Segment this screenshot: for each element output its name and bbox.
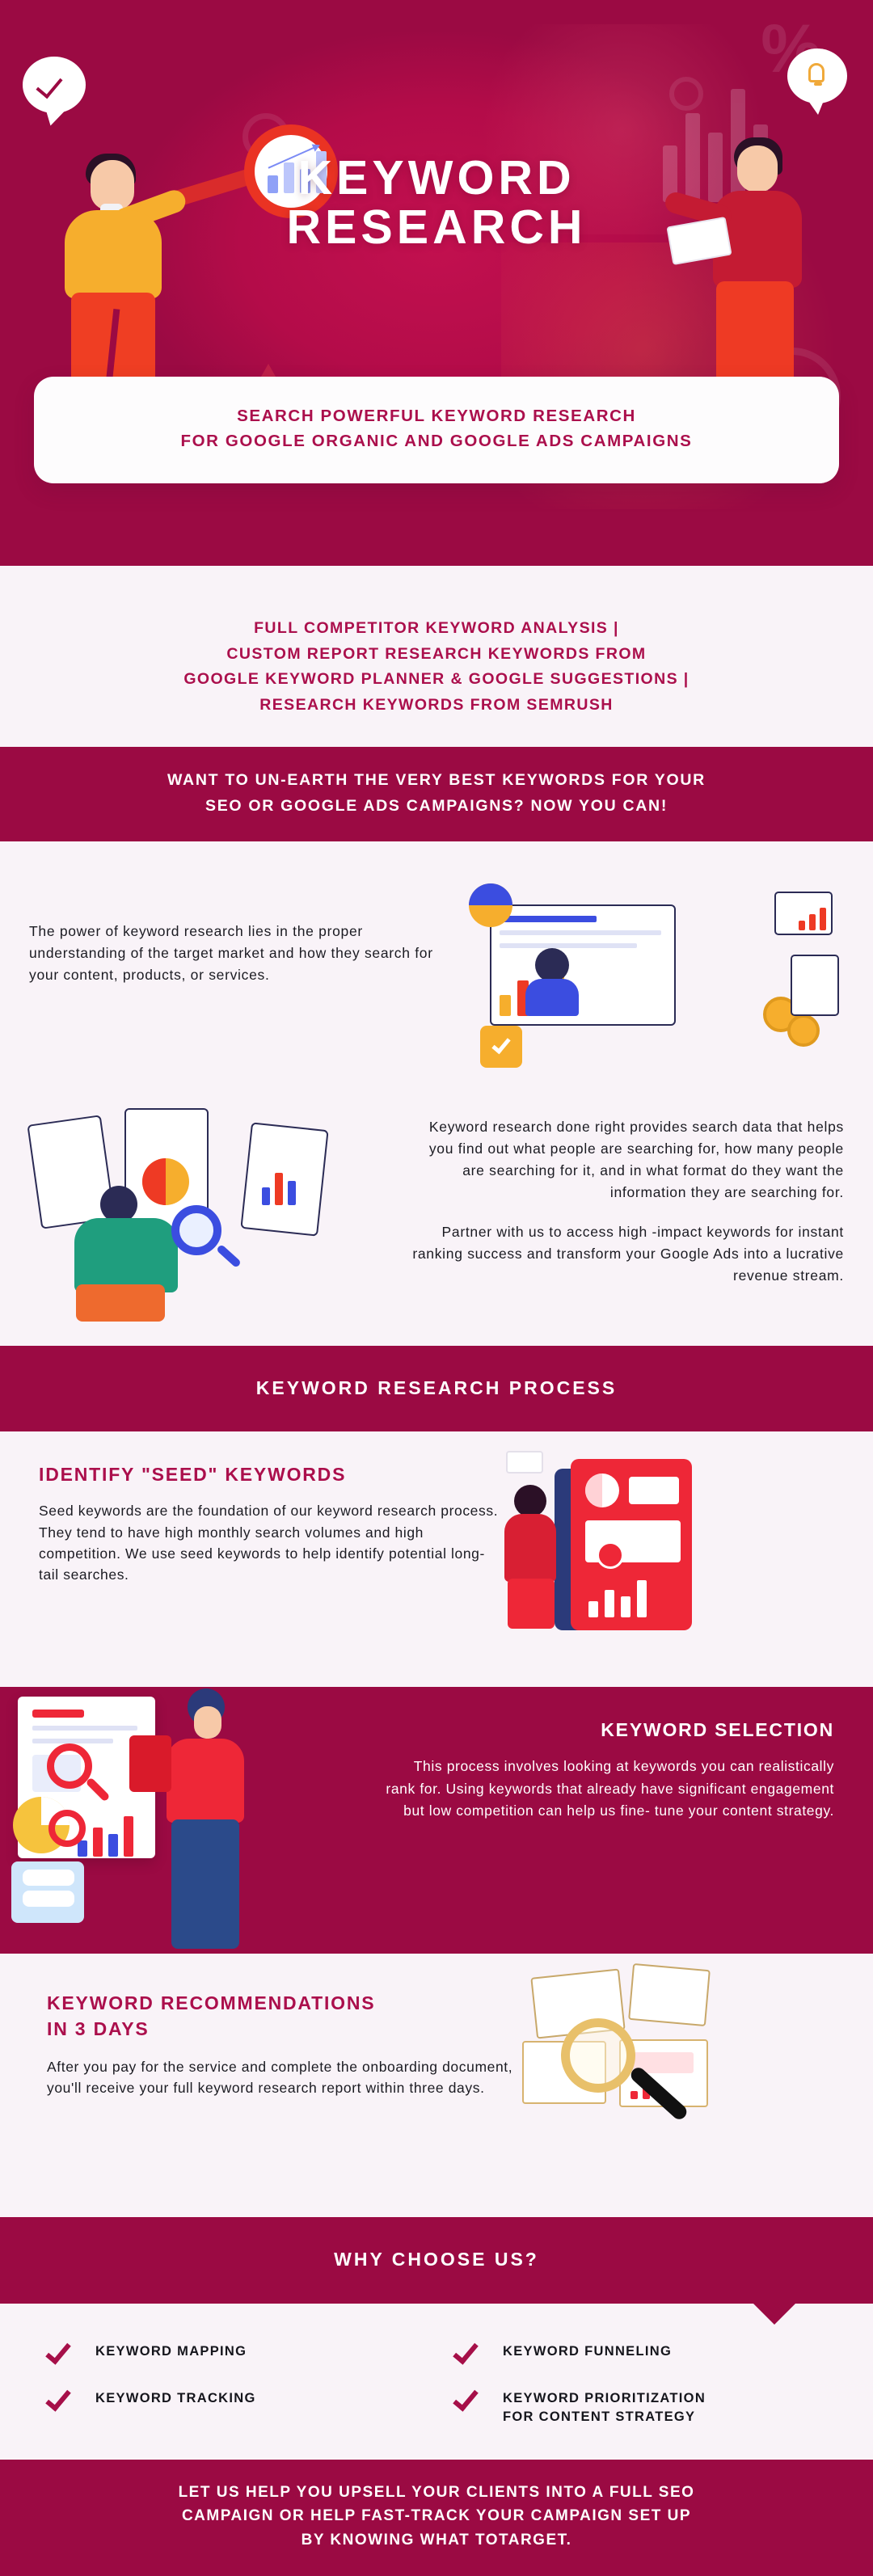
pie-slice — [469, 883, 512, 905]
step3-text: KEYWORD RECOMMENDATIONS IN 3 DAYS After … — [0, 1991, 517, 2185]
why-item-label: KEYWORD TRACKING — [95, 2383, 256, 2407]
person-legs — [171, 1819, 239, 1949]
step2-text: KEYWORD SELECTION This process involves … — [380, 1719, 873, 1921]
person-legs — [76, 1284, 165, 1322]
page-title-line-1: KEYWORD — [0, 154, 873, 203]
illustration-books-and-magnifier — [517, 1991, 873, 2185]
printer-tray — [23, 1870, 74, 1886]
why-item: KEYWORD FUNNELING — [453, 2336, 828, 2368]
footer-line-2: CAMPAIGN OR HELP FAST-TRACK YOUR CAMPAIG… — [39, 2504, 834, 2528]
chart-card — [629, 1477, 679, 1504]
illustration-man-with-documents — [0, 1719, 380, 1921]
lightbulb-icon — [808, 63, 824, 82]
illustration-person-with-screens — [29, 1108, 409, 1310]
magnifying-glass-icon — [561, 2018, 635, 2093]
illustration-analytics-dashboard — [458, 883, 844, 1094]
mini-chart-card — [506, 1451, 543, 1474]
why-item: KEYWORD TRACKING — [45, 2383, 420, 2426]
panel-line — [500, 930, 661, 935]
infographic-page: % — [0, 0, 873, 2576]
magnifier-handle — [216, 1244, 242, 1268]
person-skirt — [508, 1579, 555, 1629]
process-step-keyword-recommendations: KEYWORD RECOMMENDATIONS IN 3 DAYS After … — [0, 1954, 873, 2217]
check-icon — [45, 2336, 81, 2368]
intro-paragraphs-right: Keyword research done right provides sea… — [409, 1108, 844, 1288]
intro-paragraph-1: The power of keyword research lies in th… — [29, 883, 458, 986]
intro-paragraph-2: Keyword research done right provides sea… — [409, 1116, 844, 1204]
bar-chart-icon — [588, 1575, 647, 1617]
why-grid: KEYWORD MAPPING KEYWORD FUNNELING KEYWOR… — [45, 2336, 828, 2426]
tagline-line-2: CUSTOM REPORT RESEARCH KEYWORDS FROM — [32, 642, 841, 668]
page-title-line-2: RESEARCH — [0, 203, 873, 252]
banner-process-title: KEYWORD RESEARCH PROCESS — [32, 1373, 841, 1403]
step1-body: Seed keywords are the foundation of our … — [39, 1500, 501, 1585]
step1-heading: IDENTIFY "SEED" KEYWORDS — [39, 1464, 501, 1486]
calculator-icon — [791, 955, 839, 1016]
intro-row-two: Keyword research done right provides sea… — [0, 1094, 873, 1310]
checkmark-icon — [36, 71, 62, 99]
subtitle-line-1: SEARCH POWERFUL KEYWORD RESEARCH — [58, 404, 815, 429]
person-torso — [504, 1514, 556, 1582]
illustration-woman-presenting-dashboard — [501, 1464, 873, 1658]
coin-icon — [787, 1014, 820, 1047]
step3-heading-line-1: KEYWORD RECOMMENDATIONS — [47, 1992, 375, 2013]
tagline-section: FULL COMPETITOR KEYWORD ANALYSIS | CUSTO… — [0, 566, 873, 747]
check-icon — [453, 2336, 488, 2368]
speech-bubble — [787, 48, 847, 103]
mini-bar-chart-icon — [799, 906, 826, 930]
magnifying-glass-icon — [171, 1205, 221, 1255]
why-choose-us-list: KEYWORD MAPPING KEYWORD FUNNELING KEYWOR… — [0, 2304, 873, 2460]
step3-body: After you pay for the service and comple… — [47, 2056, 517, 2099]
banner-unearth-line-2: SEO OR GOOGLE ADS CAMPAIGNS? NOW YOU CAN… — [32, 794, 841, 819]
process-step-identify-seed-keywords: IDENTIFY "SEED" KEYWORDS Seed keywords a… — [0, 1431, 873, 1687]
why-item-label: KEYWORD PRIORITIZATION FOR CONTENT STRAT… — [503, 2383, 706, 2426]
why-item: KEYWORD PRIORITIZATION FOR CONTENT STRAT… — [453, 2383, 828, 2426]
tagline-line-1: FULL COMPETITOR KEYWORD ANALYSIS | — [32, 616, 841, 642]
person-head — [100, 1186, 137, 1223]
step1-text: IDENTIFY "SEED" KEYWORDS Seed keywords a… — [0, 1464, 501, 1658]
subtitle-card: SEARCH POWERFUL KEYWORD RESEARCH FOR GOO… — [34, 377, 839, 483]
panel-line — [500, 916, 597, 922]
banner-why-choose-us: WHY CHOOSE US? — [0, 2217, 873, 2304]
check-icon — [45, 2383, 81, 2415]
intro-section: The power of keyword research lies in th… — [0, 841, 873, 1346]
page-title: KEYWORD RESEARCH — [0, 154, 873, 253]
subtitle-line-2: FOR GOOGLE ORGANIC AND GOOGLE ADS CAMPAI… — [58, 429, 815, 454]
why-item-label: KEYWORD FUNNELING — [503, 2336, 672, 2360]
footer-line-3: BY KNOWING WHAT TOTARGET. — [39, 2528, 834, 2552]
tagline-line-4: RESEARCH KEYWORDS FROM SEMRUSH — [32, 693, 841, 719]
clipboard-icon — [129, 1735, 171, 1792]
step3-heading: KEYWORD RECOMMENDATIONS IN 3 DAYS — [47, 1991, 517, 2041]
why-item-label: KEYWORD MAPPING — [95, 2336, 247, 2360]
check-icon — [453, 2383, 488, 2415]
bar-chart-icon — [78, 1813, 133, 1857]
footer-line-1: LET US HELP YOU UPSELL YOUR CLIENTS INTO… — [39, 2481, 834, 2504]
banner-unearth-line-1: WANT TO UN-EARTH THE VERY BEST KEYWORDS … — [32, 768, 841, 793]
banner-unearth: WANT TO UN-EARTH THE VERY BEST KEYWORDS … — [0, 747, 873, 841]
process-step-keyword-selection: KEYWORD SELECTION This process involves … — [0, 1687, 873, 1954]
document-line — [32, 1726, 137, 1731]
step2-heading: KEYWORD SELECTION — [380, 1719, 834, 1741]
open-book-icon — [628, 1963, 711, 2026]
intro-row-one: The power of keyword research lies in th… — [0, 883, 873, 1094]
person-torso — [167, 1739, 244, 1823]
person-head — [194, 1706, 221, 1739]
hero-section: % — [0, 0, 873, 566]
panel-line — [500, 943, 637, 948]
banner-why-title: WHY CHOOSE US? — [32, 2245, 841, 2275]
banner-notch — [753, 2304, 795, 2325]
person-head — [514, 1485, 546, 1517]
step2-body: This process involves looking at keyword… — [380, 1756, 834, 1821]
intro-paragraph-3: Partner with us to access high -impact k… — [409, 1221, 844, 1287]
tagline-line-3: GOOGLE KEYWORD PLANNER & GOOGLE SUGGESTI… — [32, 667, 841, 693]
footer-banner: LET US HELP YOU UPSELL YOUR CLIENTS INTO… — [0, 2460, 873, 2576]
why-item: KEYWORD MAPPING — [45, 2336, 420, 2368]
checkmark-badge-icon — [480, 1026, 522, 1068]
banner-keyword-research-process: KEYWORD RESEARCH PROCESS — [0, 1346, 873, 1432]
printer-tray — [23, 1891, 74, 1907]
mini-bar-chart-icon — [262, 1157, 296, 1205]
person-head — [535, 948, 569, 982]
person-torso — [74, 1218, 178, 1292]
step3-heading-line-2: IN 3 DAYS — [47, 2018, 150, 2039]
document-line — [32, 1710, 84, 1718]
speech-bubble — [23, 57, 86, 113]
person-torso — [525, 979, 579, 1016]
